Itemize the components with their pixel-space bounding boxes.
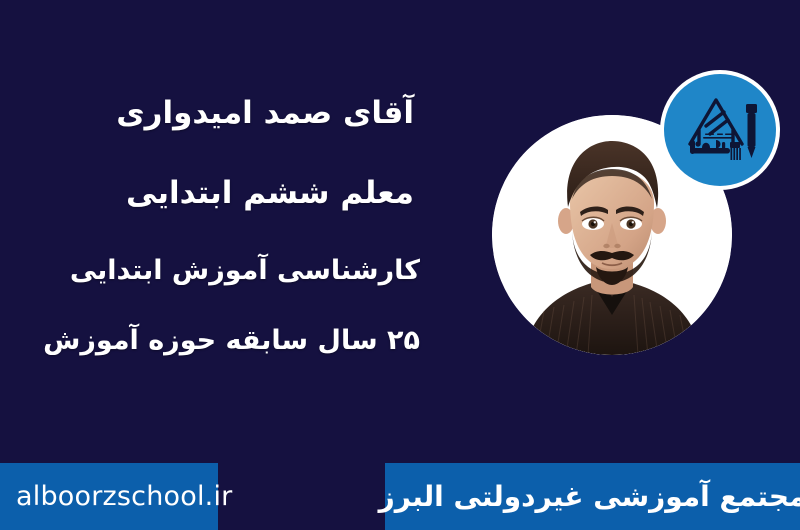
teacher-info-block: آقای صمد امیدواری معلم ششم ابتدایی کارشن…	[40, 96, 420, 356]
teacher-name: آقای صمد امیدواری	[40, 96, 420, 130]
teacher-experience: ۲۵ سال سابقه حوزه آموزش	[40, 326, 420, 356]
school-name-bar: مجتمع آموزشی غیردولتی البرز	[385, 463, 800, 530]
teacher-role: معلم ششم ابتدایی	[40, 176, 420, 210]
teacher-degree: کارشناسی آموزش ابتدایی	[40, 256, 420, 286]
website-url[interactable]: alboorzschool.ir	[16, 481, 232, 512]
teacher-profile-card: آقای صمد امیدواری معلم ششم ابتدایی کارشن…	[0, 0, 800, 530]
school-logo-badge[interactable]	[660, 70, 780, 190]
website-bar[interactable]: alboorzschool.ir	[0, 463, 218, 530]
alborz-school-logo-icon	[672, 82, 768, 178]
logo-wordmark	[690, 140, 730, 154]
school-name-label: مجتمع آموزشی غیردولتی البرز	[379, 480, 800, 513]
logo-disc	[664, 74, 776, 186]
